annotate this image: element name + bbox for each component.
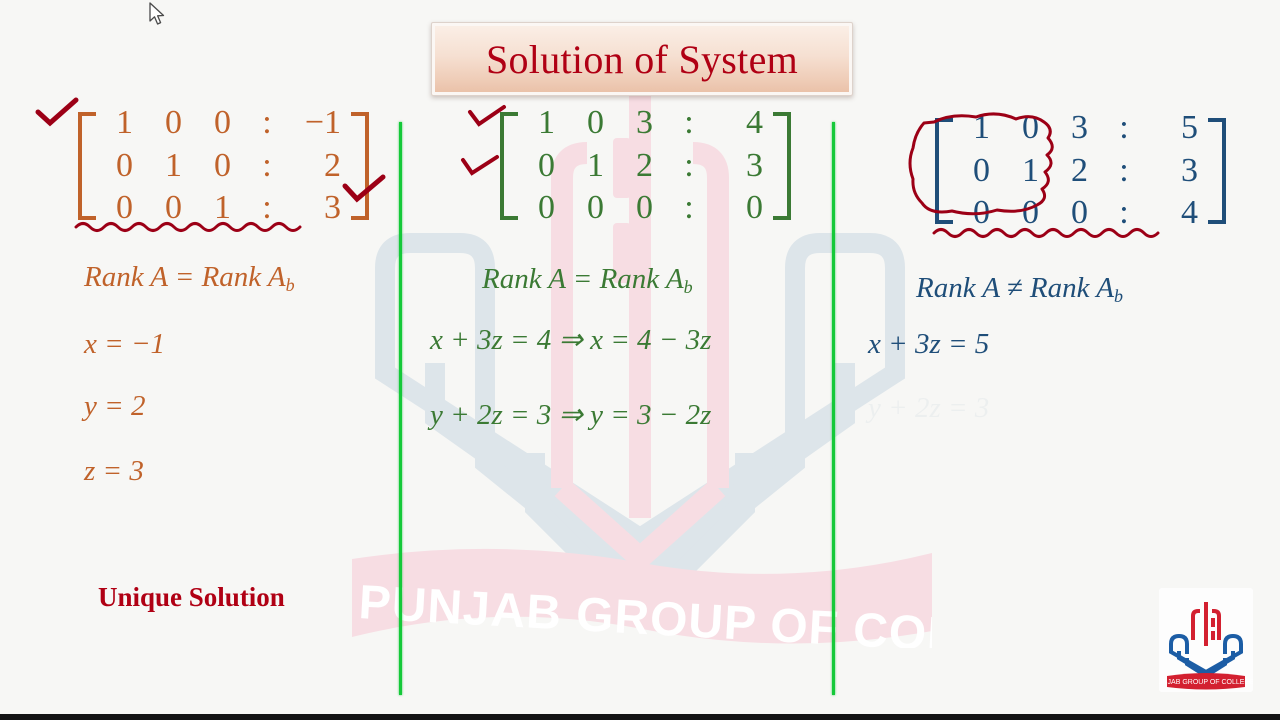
matrix-cell: 0 xyxy=(198,145,247,188)
matrix-separator: : xyxy=(1104,150,1144,193)
title-banner: Solution of System xyxy=(431,22,853,96)
matrix-cell: 0 xyxy=(100,187,149,230)
rank-statement-text: Rank A = Rank A xyxy=(84,261,286,293)
matrix-cell: 3 xyxy=(620,102,669,145)
matrix-cell: 1 xyxy=(198,187,247,230)
matrix-right-bracket xyxy=(773,112,791,220)
mouse-cursor-icon xyxy=(148,2,166,28)
matrix-separator: : xyxy=(1104,107,1144,150)
matrix-cell: 0 xyxy=(149,102,198,145)
matrix-cell: 0 xyxy=(1006,192,1055,235)
matrix-row: 1 0 3 : 5 xyxy=(957,107,1204,150)
matrix-left-bracket xyxy=(78,112,96,220)
matrix-separator: : xyxy=(247,102,287,145)
punjab-group-logo-icon: PUNJAB GROUP OF COLLEGES xyxy=(1159,588,1253,692)
matrix-cell: 0 xyxy=(571,187,620,230)
matrix-cell: 3 xyxy=(1055,107,1104,150)
matrix-cell: 0 xyxy=(149,187,198,230)
matrix-cell: 0 xyxy=(522,145,571,188)
matrix-cell: 0 xyxy=(957,150,1006,193)
matrix-row: 0 1 2 : 3 xyxy=(522,145,769,188)
matrix-cell: −1 xyxy=(287,102,347,145)
matrix-cell: 1 xyxy=(571,145,620,188)
equation-x: x = −1 xyxy=(84,328,165,361)
svg-text:PUNJAB GROUP OF COLLEGES: PUNJAB GROUP OF COLLEGES xyxy=(357,576,932,648)
matrix-cell: 2 xyxy=(287,145,347,188)
matrix-row: 1 0 0 : −1 xyxy=(100,102,347,145)
watermark-ribbon xyxy=(352,545,932,650)
slide-canvas: PUNJAB GROUP OF COLLEGES Solution of Sys… xyxy=(0,0,1280,720)
matrix-cell: 0 xyxy=(620,187,669,230)
equation-x-parametric: x + 3z = 4 ⇒ x = 4 − 3z xyxy=(430,322,711,357)
rank-statement-text: Rank A ≠ Rank A xyxy=(916,272,1114,304)
matrix-cell: 4 xyxy=(1144,192,1204,235)
rank-subscript: b xyxy=(286,275,295,295)
logo-caption: PUNJAB GROUP OF COLLEGES xyxy=(1159,679,1253,686)
matrix-cell: 0 xyxy=(709,187,769,230)
matrix-cell: 1 xyxy=(1006,150,1055,193)
matrix-separator: : xyxy=(247,145,287,188)
matrix-separator: : xyxy=(669,145,709,188)
matrix-separator: : xyxy=(669,102,709,145)
matrix-cell: 1 xyxy=(100,102,149,145)
check-mark-icon xyxy=(459,152,501,180)
rank-statement-text: Rank A = Rank A xyxy=(482,263,684,295)
check-mark-icon xyxy=(34,96,80,130)
rank-subscript: b xyxy=(1114,286,1123,306)
rank-statement-unique: Rank A = Rank Ab xyxy=(84,261,295,296)
matrix-row: 1 0 3 : 4 xyxy=(522,102,769,145)
matrix-cell: 1 xyxy=(522,102,571,145)
rank-subscript: b xyxy=(684,277,693,297)
matrix-separator: : xyxy=(247,187,287,230)
matrix-cell: 1 xyxy=(149,145,198,188)
matrix-cell: 5 xyxy=(1144,107,1204,150)
matrix-cell: 3 xyxy=(287,187,347,230)
matrix-cell: 0 xyxy=(1006,107,1055,150)
equation-y-parametric: y + 2z = 3 ⇒ y = 3 − 2z xyxy=(430,397,711,432)
matrix-row: 0 0 0 : 0 xyxy=(522,187,769,230)
matrix-right-bracket xyxy=(351,112,369,220)
rank-statement-no-solution: Rank A ≠ Rank Ab xyxy=(916,272,1123,307)
equation-x-no-solution: x + 3z = 5 xyxy=(868,328,989,361)
rank-statement-infinite: Rank A = Rank Ab xyxy=(482,263,693,298)
matrix-cell: 0 xyxy=(1055,192,1104,235)
equation-y-fading: y + 2z = 3 xyxy=(868,392,989,425)
matrix-cell: 2 xyxy=(620,145,669,188)
matrix-cell: 0 xyxy=(957,192,1006,235)
equation-z: z = 3 xyxy=(84,455,144,488)
matrix-row: 0 1 2 : 3 xyxy=(957,150,1204,193)
watermark-text: PUNJAB GROUP OF COLLEGES xyxy=(352,556,932,648)
matrix-cell: 0 xyxy=(198,102,247,145)
matrix-cell: 0 xyxy=(522,187,571,230)
matrix-row: 0 1 0 : 2 xyxy=(100,145,347,188)
page-title: Solution of System xyxy=(486,36,798,83)
matrix-left-bracket xyxy=(935,118,953,224)
matrix-unique-solution: 1 0 0 : −1 0 1 0 : 2 0 0 1 : 3 xyxy=(78,112,369,220)
matrix-separator: : xyxy=(669,187,709,230)
conclusion-unique-solution: Unique Solution xyxy=(98,582,285,613)
matrix-cell: 3 xyxy=(1144,150,1204,193)
matrix-cell: 2 xyxy=(1055,150,1104,193)
equation-y: y = 2 xyxy=(84,390,145,423)
matrix-row: 0 0 1 : 3 xyxy=(100,187,347,230)
matrix-no-solution: 1 0 3 : 5 0 1 2 : 3 0 0 0 : 4 xyxy=(935,118,1226,224)
matrix-cell: 1 xyxy=(957,107,1006,150)
matrix-left-bracket xyxy=(500,112,518,220)
matrix-right-bracket xyxy=(1208,118,1226,224)
matrix-cell: 0 xyxy=(571,102,620,145)
column-divider-2 xyxy=(832,122,835,695)
matrix-separator: : xyxy=(1104,192,1144,235)
column-divider-1 xyxy=(399,122,402,695)
matrix-cell: 4 xyxy=(709,102,769,145)
matrix-cell: 3 xyxy=(709,145,769,188)
matrix-cell: 0 xyxy=(100,145,149,188)
matrix-infinite-solutions: 1 0 3 : 4 0 1 2 : 3 0 0 0 : 0 xyxy=(500,112,791,220)
matrix-row: 0 0 0 : 4 xyxy=(957,192,1204,235)
